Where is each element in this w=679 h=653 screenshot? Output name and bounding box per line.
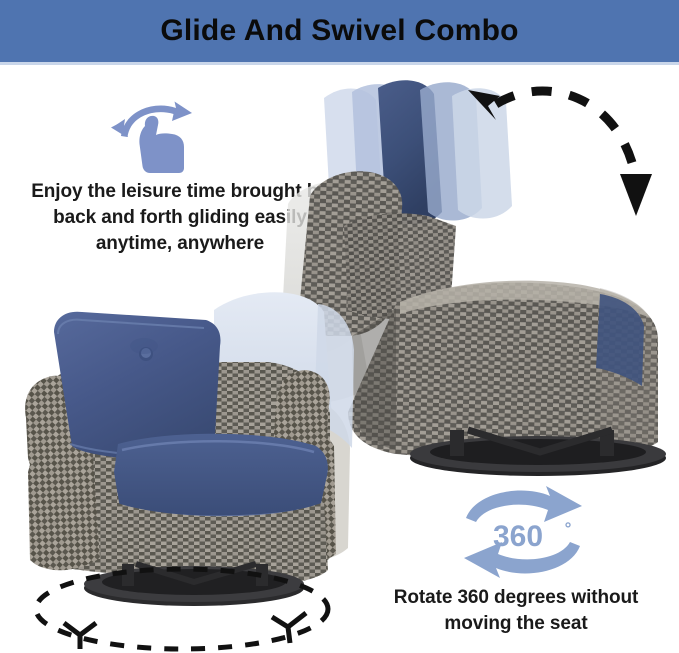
product-infographic: Glide And Swivel Combo Enjoy the leisure… <box>0 0 679 653</box>
header-banner: Glide And Swivel Combo <box>0 0 679 62</box>
rotate-360-label: 360 <box>493 520 543 553</box>
dashed-swivel-ellipse <box>24 565 344 653</box>
header-underline <box>0 62 679 65</box>
page-title: Glide And Swivel Combo <box>160 14 518 48</box>
degree-symbol: ° <box>565 519 572 538</box>
dashed-glide-arc <box>466 78 656 230</box>
rotate-360-icon: 360 ° <box>452 484 594 580</box>
glide-chair-icon <box>104 94 216 176</box>
swivel-caption: Rotate 360 degrees without moving the se… <box>366 585 666 637</box>
